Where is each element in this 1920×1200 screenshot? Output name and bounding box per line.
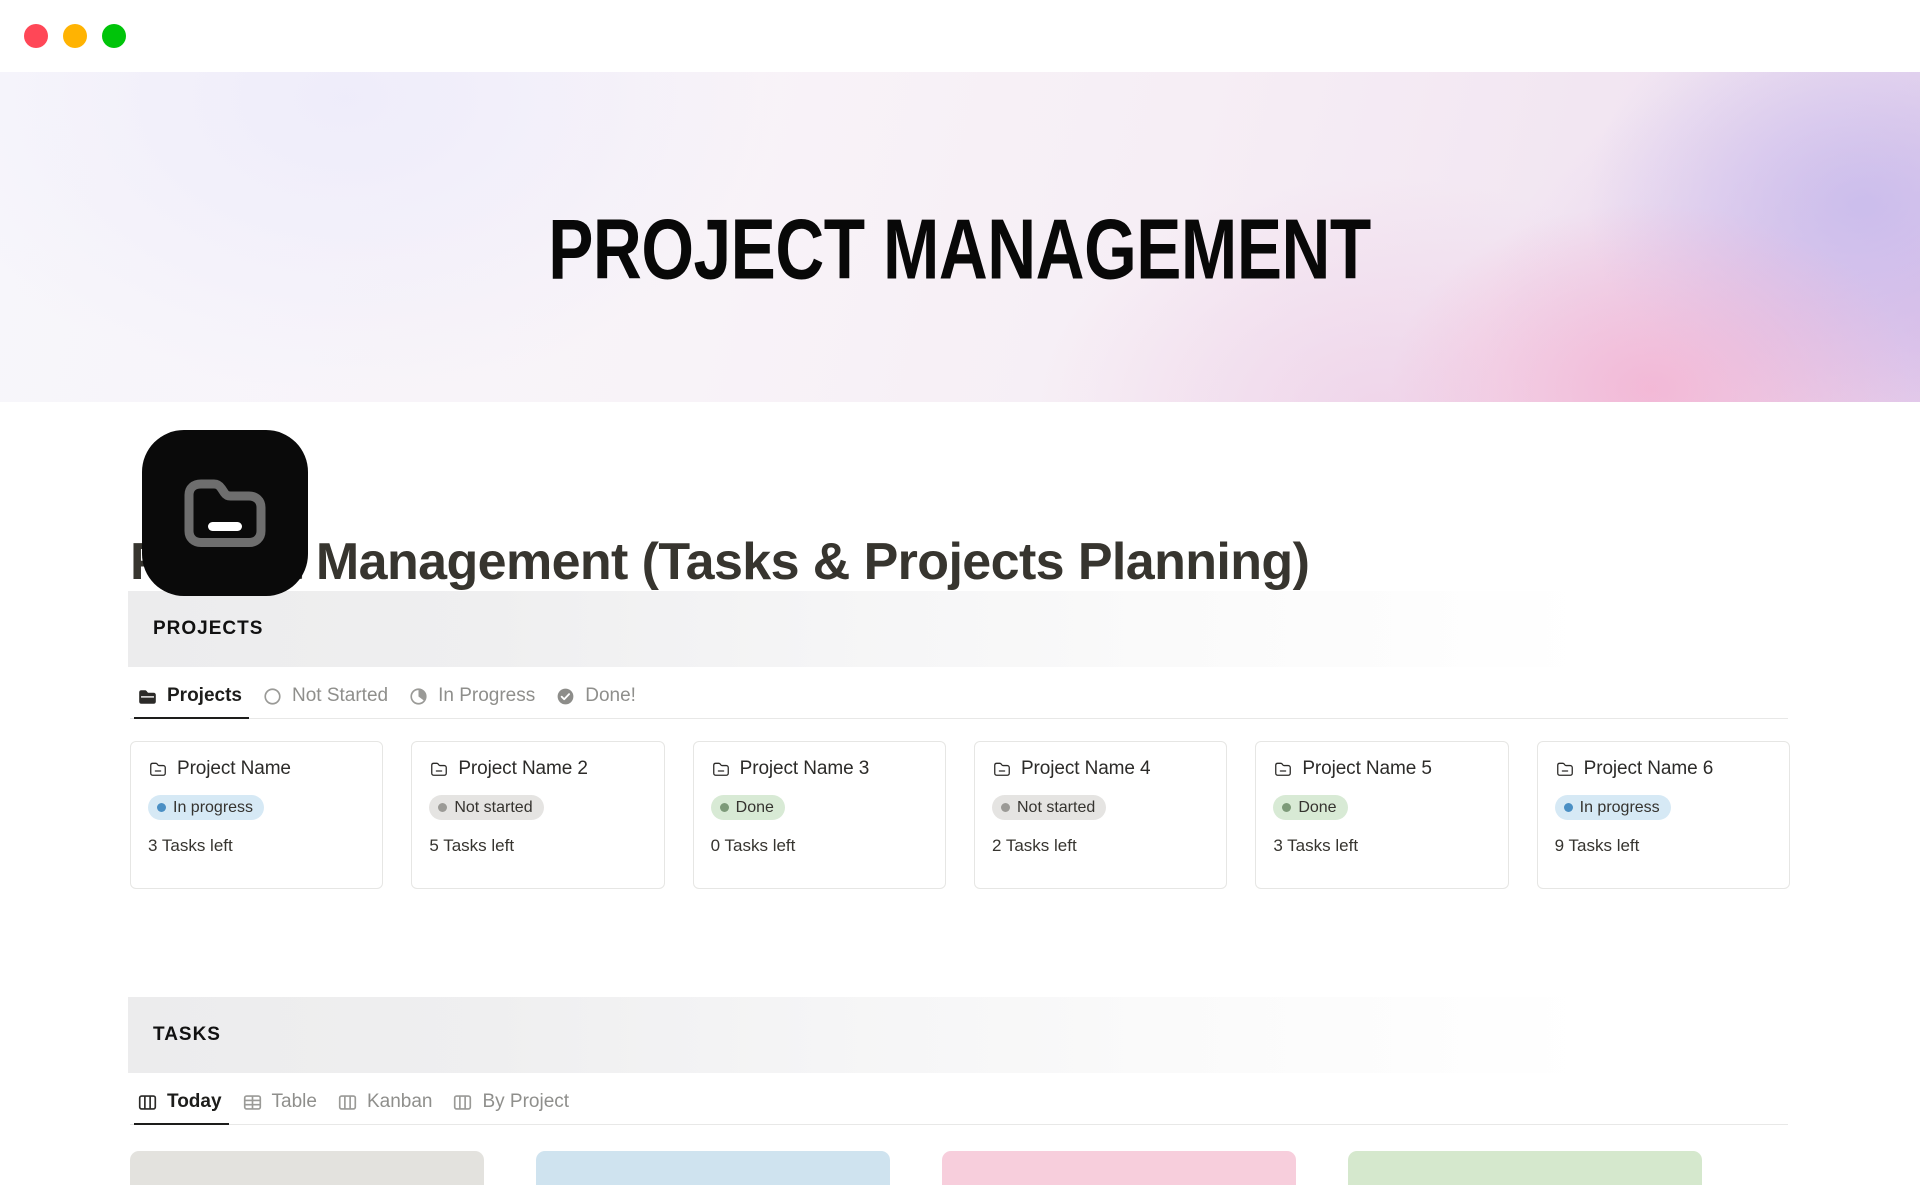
project-card[interactable]: Project Name 3 Done 0 Tasks left	[693, 741, 946, 889]
column-gray-header	[130, 1151, 484, 1185]
status-dot	[1001, 803, 1010, 812]
project-card[interactable]: Project Name 4 Not started 2 Tasks left	[974, 741, 1227, 889]
tab-projects-label: Projects	[167, 685, 242, 707]
status-badge[interactable]: Not started	[429, 795, 543, 820]
tasks-left: 0 Tasks left	[711, 836, 928, 856]
status-dot	[1564, 803, 1573, 812]
status-dot	[157, 803, 166, 812]
tasks-left: 5 Tasks left	[429, 836, 646, 856]
tasks-left: 9 Tasks left	[1555, 836, 1772, 856]
pie-clock-icon	[408, 686, 429, 707]
tab-projects[interactable]: Projects	[130, 667, 255, 718]
project-card-name: Project Name 2	[458, 758, 588, 780]
status-badge[interactable]: Not started	[992, 795, 1106, 820]
table-icon	[242, 1092, 263, 1113]
tab-done-label: Done!	[585, 685, 636, 707]
status-label: Not started	[1017, 799, 1095, 817]
kanban-column[interactable]	[536, 1151, 890, 1185]
project-card-name: Project Name 4	[1021, 758, 1151, 780]
project-cards: Project Name In progress 3 Tasks left Pr…	[130, 719, 1790, 889]
tasks-section: TASKS Today Table	[0, 997, 1920, 1185]
tasks-band-label: TASKS	[153, 1024, 221, 1046]
page-title: Project Management (Tasks & Projects Pla…	[130, 534, 1920, 591]
projects-band: PROJECTS	[128, 591, 1788, 667]
column-blue-header	[536, 1151, 890, 1185]
projects-section: PROJECTS Projects Not Started	[0, 591, 1920, 889]
check-circle-icon	[555, 686, 576, 707]
board-icon	[337, 1092, 358, 1113]
tab-table-label: Table	[272, 1091, 317, 1113]
project-card-name: Project Name 5	[1302, 758, 1432, 780]
status-label: Done	[736, 799, 774, 817]
minimize-button[interactable]	[63, 24, 87, 48]
tab-kanban-label: Kanban	[367, 1091, 433, 1113]
page-folder-icon[interactable]	[142, 430, 308, 596]
status-badge[interactable]: In progress	[1555, 795, 1671, 820]
tab-done[interactable]: Done!	[548, 667, 649, 718]
column-pink-header	[942, 1151, 1296, 1185]
tab-in-progress-label: In Progress	[438, 685, 535, 707]
cover-title: PROJECT MANAGEMENT	[0, 209, 1920, 291]
project-card-name: Project Name 6	[1584, 758, 1714, 780]
cover-banner[interactable]: PROJECT MANAGEMENT	[0, 72, 1920, 402]
close-button[interactable]	[24, 24, 48, 48]
folder-outline-icon	[429, 759, 449, 779]
tasks-left: 2 Tasks left	[992, 836, 1209, 856]
page-content: Project Management (Tasks & Projects Pla…	[0, 534, 1920, 1185]
projects-view-tabs: Projects Not Started In Progress	[130, 667, 1788, 719]
tab-today-label: Today	[167, 1091, 222, 1113]
status-dot	[720, 803, 729, 812]
tab-in-progress[interactable]: In Progress	[401, 667, 548, 718]
folder-filled-icon	[137, 686, 158, 707]
tab-not-started[interactable]: Not Started	[255, 667, 401, 718]
tasks-band: TASKS	[128, 997, 1788, 1073]
project-card[interactable]: Project Name In progress 3 Tasks left	[130, 741, 383, 889]
folder-icon	[179, 471, 271, 555]
maximize-button[interactable]	[102, 24, 126, 48]
tab-by-project-label: By Project	[482, 1091, 569, 1113]
kanban-columns	[130, 1125, 1790, 1185]
project-card-title: Project Name 3	[711, 758, 928, 780]
status-dot	[1282, 803, 1291, 812]
project-card-title: Project Name 2	[429, 758, 646, 780]
tab-by-project[interactable]: By Project	[445, 1073, 582, 1124]
tab-today[interactable]: Today	[130, 1073, 235, 1124]
project-card-name: Project Name	[177, 758, 291, 780]
status-label: Done	[1298, 799, 1336, 817]
status-label: Not started	[454, 799, 532, 817]
folder-outline-icon	[148, 759, 168, 779]
project-card-title: Project Name 5	[1273, 758, 1490, 780]
tasks-left: 3 Tasks left	[148, 836, 365, 856]
project-card[interactable]: Project Name 6 In progress 9 Tasks left	[1537, 741, 1790, 889]
status-badge[interactable]: Done	[1273, 795, 1347, 820]
status-label: In progress	[173, 799, 253, 817]
folder-outline-icon	[1273, 759, 1293, 779]
tab-not-started-label: Not Started	[292, 685, 388, 707]
tasks-left: 3 Tasks left	[1273, 836, 1490, 856]
folder-outline-icon	[992, 759, 1012, 779]
tab-kanban[interactable]: Kanban	[330, 1073, 446, 1124]
project-card-title: Project Name	[148, 758, 365, 780]
status-badge[interactable]: Done	[711, 795, 785, 820]
kanban-column[interactable]	[1348, 1151, 1702, 1185]
status-badge[interactable]: In progress	[148, 795, 264, 820]
status-dot	[438, 803, 447, 812]
tab-table[interactable]: Table	[235, 1073, 330, 1124]
projects-band-label: PROJECTS	[153, 618, 263, 640]
board-icon	[452, 1092, 473, 1113]
section-spacer	[0, 889, 1920, 997]
project-card-title: Project Name 6	[1555, 758, 1772, 780]
tasks-view-tabs: Today Table Kanban	[130, 1073, 1788, 1125]
folder-outline-icon	[1555, 759, 1575, 779]
circle-outline-icon	[262, 686, 283, 707]
project-card[interactable]: Project Name 5 Done 3 Tasks left	[1255, 741, 1508, 889]
board-icon	[137, 1092, 158, 1113]
project-card-name: Project Name 3	[740, 758, 870, 780]
project-card[interactable]: Project Name 2 Not started 5 Tasks left	[411, 741, 664, 889]
kanban-column[interactable]	[942, 1151, 1296, 1185]
project-card-title: Project Name 4	[992, 758, 1209, 780]
folder-outline-icon	[711, 759, 731, 779]
status-label: In progress	[1580, 799, 1660, 817]
kanban-column[interactable]	[130, 1151, 484, 1185]
window-titlebar	[0, 0, 1920, 72]
column-green-header	[1348, 1151, 1702, 1185]
